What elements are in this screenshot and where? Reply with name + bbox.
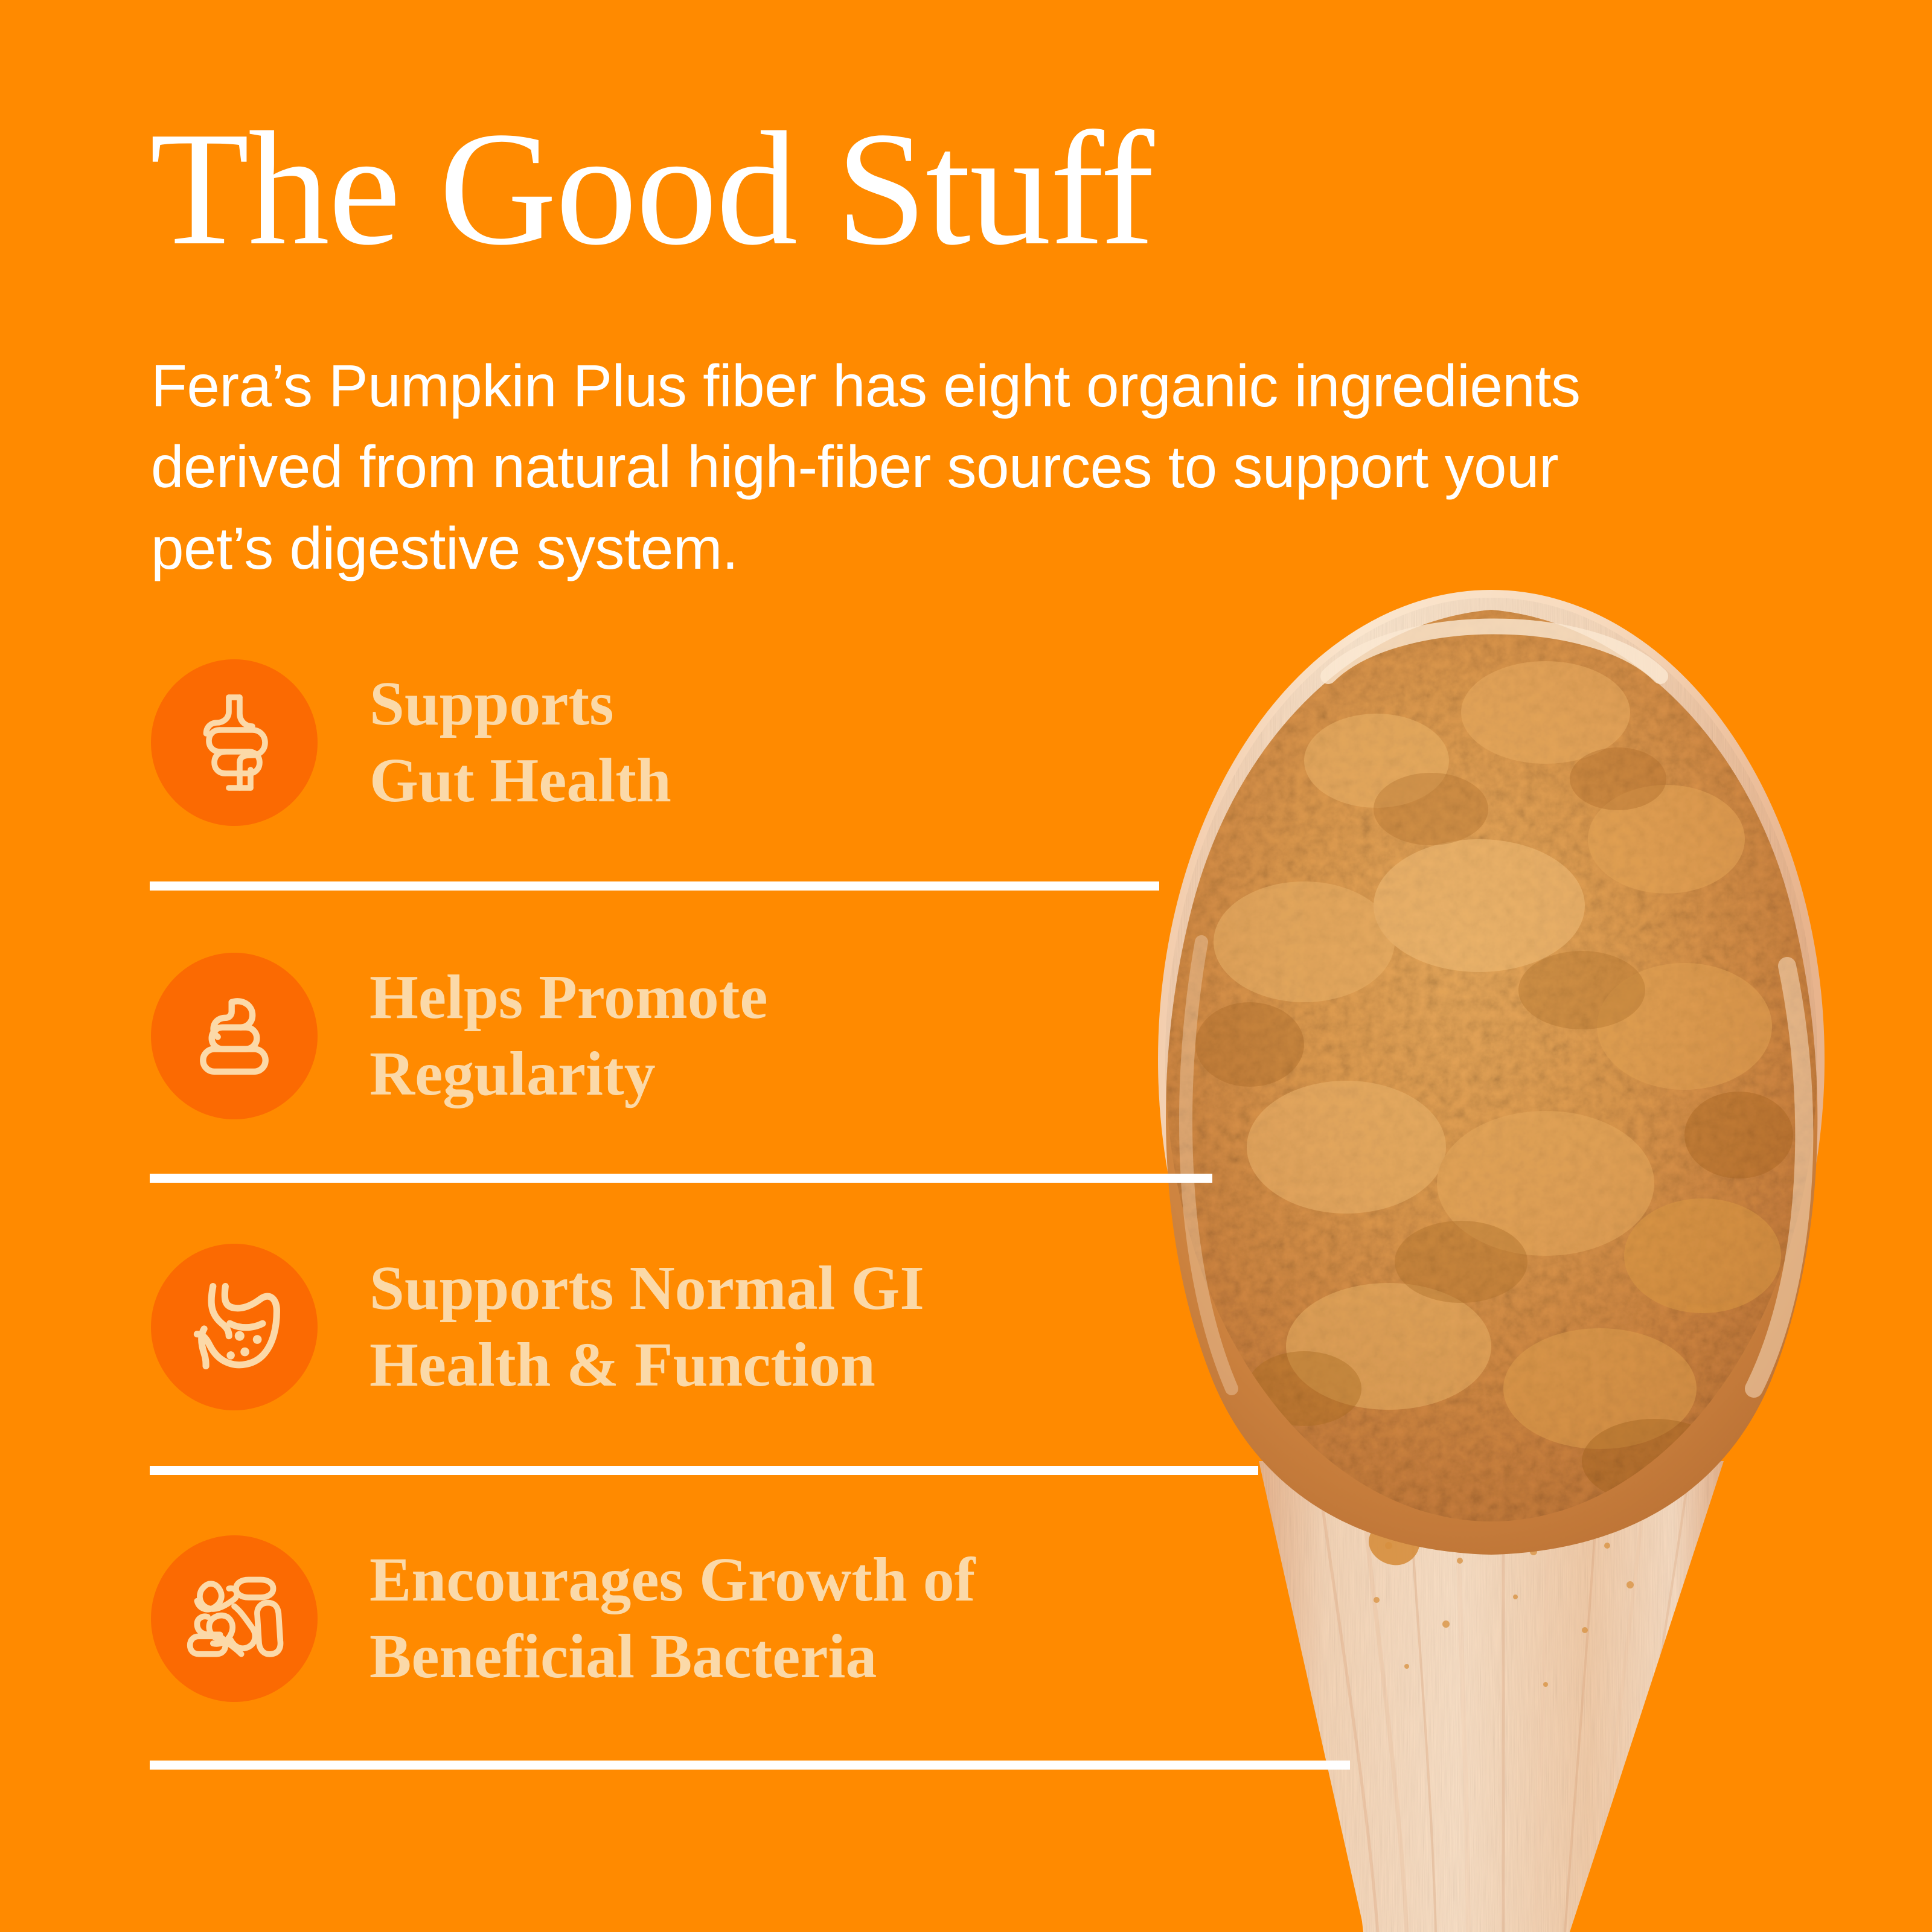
feature-label: Encourages Growth of Beneficial Bacteria xyxy=(369,1542,975,1695)
divider xyxy=(150,1466,1258,1475)
stool-icon xyxy=(151,953,318,1119)
divider xyxy=(150,1174,1212,1183)
feature-item-gut-health: Supports Gut Health xyxy=(151,659,671,826)
feature-label: Supports Gut Health xyxy=(369,666,671,819)
feature-label: Supports Normal GI Health & Function xyxy=(369,1250,924,1404)
divider xyxy=(150,881,1159,891)
promo-graphic: The Good Stuff Fera’s Pumpkin Plus fiber… xyxy=(0,0,1932,1932)
feature-label: Helps Promote Regularity xyxy=(369,959,768,1113)
feature-item-beneficial-bacteria: Encourages Growth of Beneficial Bacteria xyxy=(151,1535,975,1702)
stomach-icon xyxy=(151,1244,318,1410)
bacteria-icon xyxy=(151,1535,318,1702)
feature-item-gi-health: Supports Normal GI Health & Function xyxy=(151,1244,924,1410)
divider xyxy=(150,1761,1350,1770)
intestine-icon xyxy=(151,659,318,826)
feature-list: Supports Gut Health Helps Promote Regula… xyxy=(0,0,1932,1932)
feature-item-regularity: Helps Promote Regularity xyxy=(151,953,768,1119)
